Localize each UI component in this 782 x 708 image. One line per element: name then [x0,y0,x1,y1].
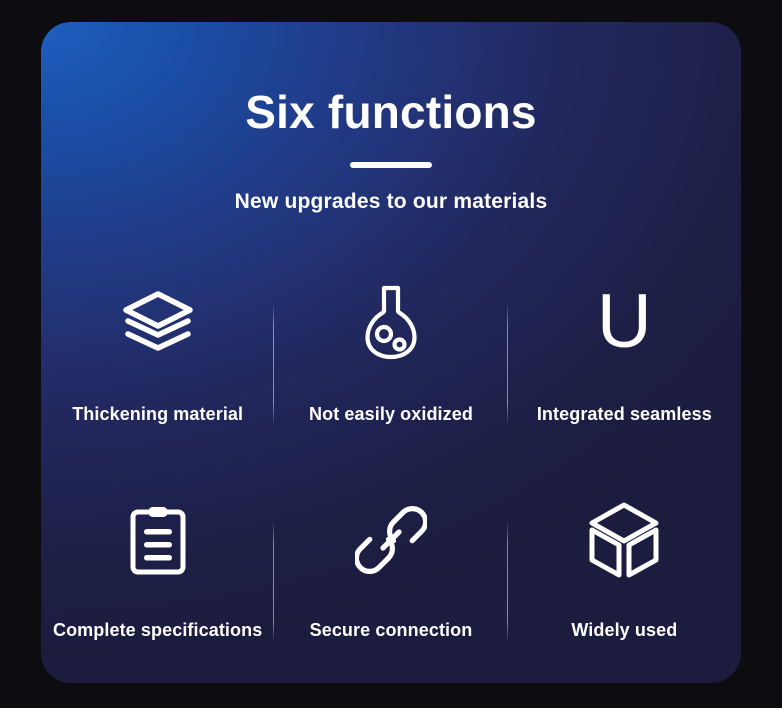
feature-item-not-easily-oxidized[interactable]: Not easily oxidized [274,260,507,450]
six-functions-card: Six functions New upgrades to our materi… [41,22,741,683]
feature-item-integrated-seamless[interactable]: U Integrated seamless [508,260,741,450]
screenshot-stage: Six functions New upgrades to our materi… [0,0,782,708]
cube-icon [586,492,662,588]
flask-icon [360,274,422,370]
feature-item-complete-specifications[interactable]: Complete specifications [41,478,274,668]
feature-label: Secure connection [310,620,473,641]
chain-link-icon [355,492,427,588]
feature-label: Integrated seamless [537,404,712,425]
feature-item-thickening-material[interactable]: Thickening material [41,260,274,450]
feature-label: Not easily oxidized [309,404,473,425]
title-divider-rule [350,162,432,168]
feature-label: Complete specifications [53,620,262,641]
feature-label: Thickening material [72,404,243,425]
u-shape-icon: U [597,274,652,370]
feature-label: Widely used [571,620,677,641]
feature-item-secure-connection[interactable]: Secure connection [274,478,507,668]
layers-icon [122,274,194,370]
features-grid: Thickening material Not easily oxidized … [41,260,741,668]
clipboard-icon [126,492,190,588]
u-shape-glyph: U [597,284,652,360]
page-title: Six functions [41,84,741,140]
feature-item-widely-used[interactable]: Widely used [508,478,741,668]
page-subtitle: New upgrades to our materials [41,190,741,214]
card-header: Six functions New upgrades to our materi… [41,22,741,214]
